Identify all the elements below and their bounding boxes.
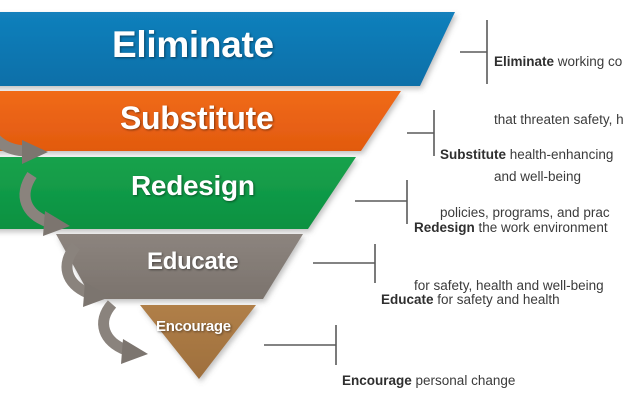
pyramid-band-encourage[interactable] — [140, 305, 256, 379]
annotation-redesign-keyword: Redesign — [414, 220, 475, 235]
annotation-substitute-line-1: Substitute health-enhancing — [440, 145, 613, 164]
pyramid-band-eliminate[interactable] — [0, 12, 455, 86]
annotation-eliminate-rest: working co — [554, 54, 622, 69]
annotation-eliminate-line-1: Eliminate working co — [494, 52, 624, 71]
annotation-educate-rest: for safety and health — [434, 292, 560, 307]
annotation-encourage: Encourage personal change — [342, 333, 515, 400]
annotation-educate-keyword: Educate — [381, 292, 434, 307]
annotation-encourage-rest: personal change — [412, 373, 516, 388]
annotation-substitute-keyword: Substitute — [440, 147, 506, 162]
pyramid-band-substitute[interactable] — [0, 91, 401, 151]
annotation-encourage-line-1: Encourage personal change — [342, 371, 515, 390]
annotation-eliminate-keyword: Eliminate — [494, 54, 554, 69]
diagram-canvas: Eliminate Substitute Redesign Educate En… — [0, 0, 640, 400]
annotation-redesign-rest: the work environment — [475, 220, 608, 235]
annotation-redesign-line-1: Redesign the work environment — [414, 218, 608, 237]
annotation-encourage-keyword: Encourage — [342, 373, 412, 388]
annotation-educate-line-1: Educate for safety and health — [381, 290, 560, 309]
flow-arrow-4 — [104, 304, 148, 364]
annotation-substitute-rest: health-enhancing — [506, 147, 613, 162]
